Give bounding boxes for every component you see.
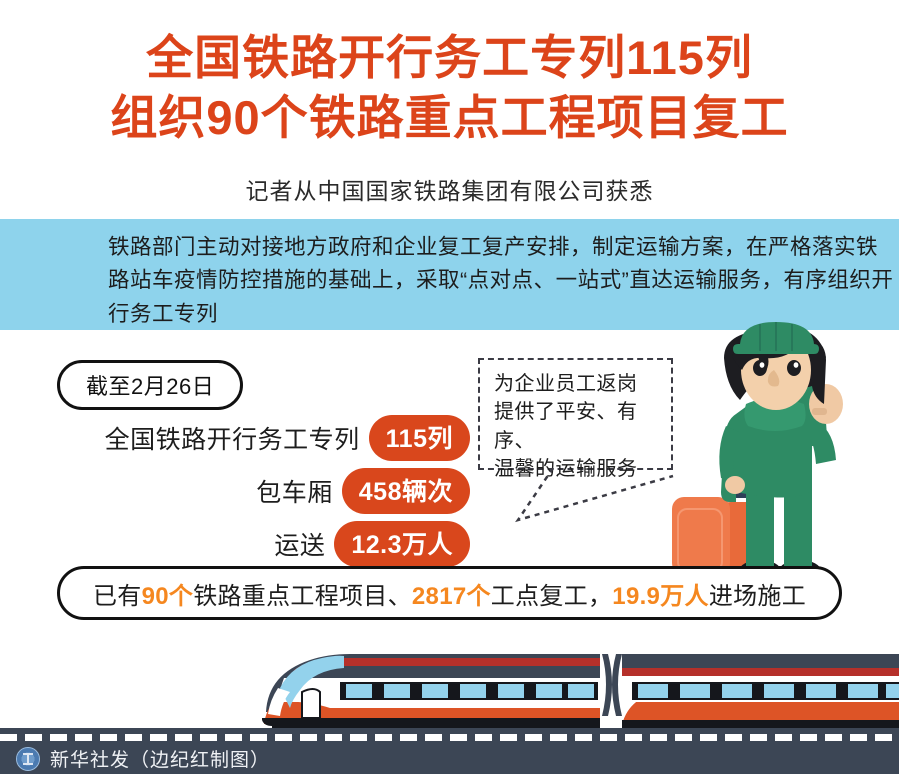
speech-bubble-line-2: 提供了平安、有序、 <box>494 398 674 455</box>
page-title: 全国铁路开行务工专列115列 组织90个铁路重点工程项目复工 <box>0 28 899 148</box>
railway-sleepers <box>0 734 899 741</box>
summary-bar: 已有90个铁路重点工程项目、2817个工点复工，19.9万人进场施工 <box>57 566 842 620</box>
stat-value-badge: 458辆次 <box>342 468 470 514</box>
speech-bubble-tail-icon <box>478 468 678 538</box>
summary-banner: 铁路部门主动对接地方政府和企业复工复产安排，制定运输方案，在严格落实铁路站车疫情… <box>0 219 899 330</box>
stats-list: 全国铁路开行务工专列 115列 包车厢 458辆次 运送 12.3万人 <box>60 415 470 574</box>
stat-label: 运送 <box>274 526 325 562</box>
summary-mid-1: 铁路重点工程项目、 <box>193 583 412 610</box>
stat-row: 全国铁路开行务工专列 115列 <box>60 415 470 461</box>
footer-bar: 新华社发（边纪红制图） <box>0 743 899 774</box>
stat-value-badge: 12.3万人 <box>334 521 470 567</box>
stat-row: 运送 12.3万人 <box>60 521 470 567</box>
page-subtitle: 记者从中国国家铁路集团有限公司获悉 <box>0 172 899 206</box>
stat-value-badge: 115列 <box>369 415 470 461</box>
infographic-page: 全国铁路开行务工专列115列 组织90个铁路重点工程项目复工 记者从中国国家铁路… <box>0 0 899 774</box>
high-speed-train-icon <box>250 640 899 740</box>
speech-bubble: 为企业员工返岗 提供了平安、有序、 温馨的运输服务 <box>478 358 673 470</box>
xinhua-logo-icon <box>16 747 40 771</box>
title-line-1: 全国铁路开行务工专列115列 <box>0 28 899 88</box>
summary-text: 已有90个铁路重点工程项目、2817个工点复工，19.9万人进场施工 <box>93 576 806 611</box>
stat-label: 包车厢 <box>256 473 333 509</box>
summary-highlight-1: 90个 <box>142 583 194 610</box>
banner-text: 铁路部门主动对接地方政府和企业复工复产安排，制定运输方案，在严格落实铁路站车疫情… <box>108 231 898 331</box>
speech-bubble-line-1: 为企业员工返岗 <box>494 370 674 398</box>
summary-highlight-2: 2817个 <box>412 583 491 610</box>
summary-prefix: 已有 <box>93 583 142 610</box>
footer-credit: 新华社发（边纪红制图） <box>50 745 270 772</box>
speech-bubble-text: 为企业员工返岗 提供了平安、有序、 温馨的运输服务 <box>494 370 674 484</box>
stat-row: 包车厢 458辆次 <box>60 468 470 514</box>
summary-mid-2: 工点复工， <box>491 583 613 610</box>
summary-highlight-3: 19.9万人 <box>612 583 709 610</box>
date-badge: 截至2月26日 <box>57 360 243 410</box>
summary-suffix: 进场施工 <box>709 583 806 610</box>
title-line-2: 组织90个铁路重点工程项目复工 <box>0 88 899 148</box>
stat-label: 全国铁路开行务工专列 <box>105 420 360 456</box>
